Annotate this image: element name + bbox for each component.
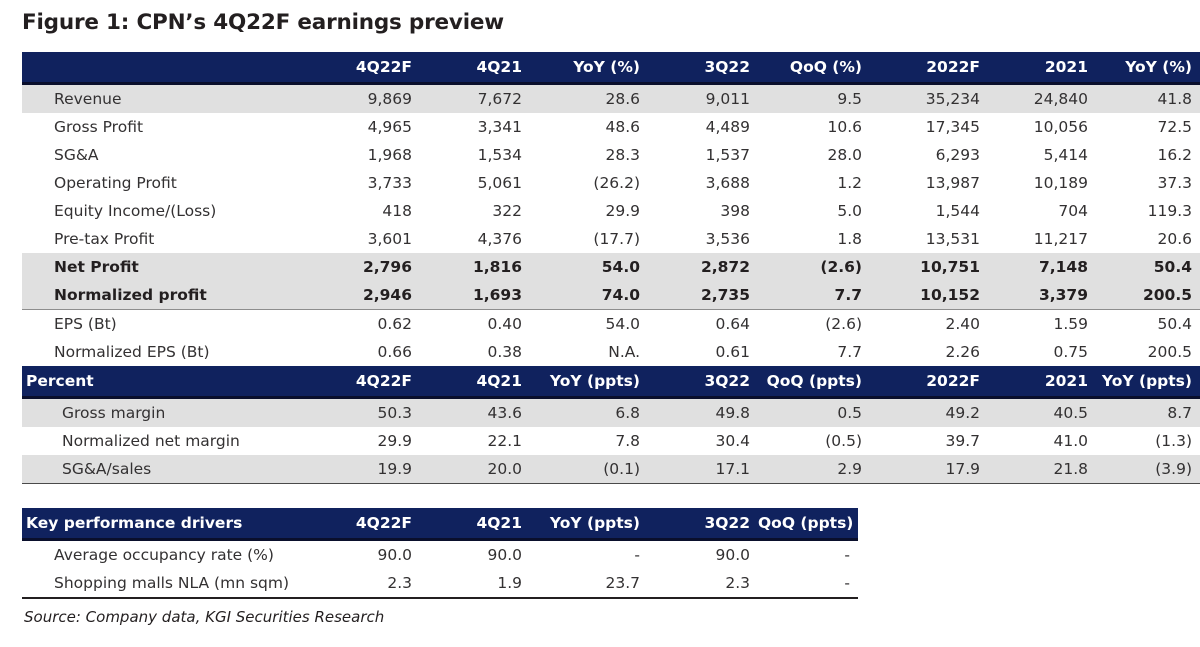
cell-value: 1,816 — [420, 253, 530, 281]
cell-value: 0.61 — [648, 338, 758, 366]
cell-value: (1.3) — [1096, 427, 1200, 455]
cell-value: 37.3 — [1096, 169, 1200, 197]
cell-value: 41.0 — [988, 427, 1096, 455]
source-note: Source: Company data, KGI Securities Res… — [24, 608, 384, 626]
cell-value: 4,489 — [648, 113, 758, 141]
cell-value: 1.8 — [758, 225, 870, 253]
cell-value: 1,693 — [420, 281, 530, 310]
figure-container: Figure 1: CPN’s 4Q22F earnings preview 4… — [0, 0, 1200, 647]
cell-value: 1,544 — [870, 197, 988, 225]
row-label-normalized-eps: Normalized EPS (Bt) — [22, 338, 310, 366]
cell-value: 13,531 — [870, 225, 988, 253]
cell-value: 7,672 — [420, 84, 530, 114]
row-label-pretax-profit: Pre-tax Profit — [22, 225, 310, 253]
row-label-operating-profit: Operating Profit — [22, 169, 310, 197]
cell-value: 28.6 — [530, 84, 648, 114]
table-row: Pre-tax Profit 3,601 4,376 (17.7) 3,536 … — [22, 225, 1200, 253]
cell-value: 20.6 — [1096, 225, 1200, 253]
cell-value: 90.0 — [648, 540, 758, 570]
main-header-col-3q22: 3Q22 — [648, 52, 758, 84]
cell-value: 90.0 — [310, 540, 420, 570]
row-label-net-profit: Net Profit — [22, 253, 310, 281]
cell-value: 3,601 — [310, 225, 420, 253]
cell-value: 3,379 — [988, 281, 1096, 310]
earnings-preview-table: 4Q22F 4Q21 YoY (%) 3Q22 QoQ (%) 2022F 20… — [22, 52, 1200, 484]
cell-value: 72.5 — [1096, 113, 1200, 141]
page-title: Figure 1: CPN’s 4Q22F earnings preview — [22, 10, 504, 35]
table-row: Normalized EPS (Bt) 0.66 0.38 N.A. 0.61 … — [22, 338, 1200, 366]
cell-value: 1,537 — [648, 141, 758, 169]
cell-value: 10,189 — [988, 169, 1096, 197]
cell-value: 2,946 — [310, 281, 420, 310]
cell-value: 1,968 — [310, 141, 420, 169]
drivers-header-col-4q21: 4Q21 — [420, 508, 530, 540]
cell-value: - — [758, 540, 858, 570]
cell-value: 3,688 — [648, 169, 758, 197]
cell-value: N.A. — [530, 338, 648, 366]
row-label-equity-income: Equity Income/(Loss) — [22, 197, 310, 225]
row-label-avg-occupancy-rate: Average occupancy rate (%) — [22, 540, 310, 570]
cell-value: 2.40 — [870, 310, 988, 339]
cell-value: 40.5 — [988, 398, 1096, 428]
cell-value: 17,345 — [870, 113, 988, 141]
cell-value: 0.5 — [758, 398, 870, 428]
drivers-header-col-yoy-ppts: YoY (ppts) — [530, 508, 648, 540]
main-header-col-2021: 2021 — [988, 52, 1096, 84]
cell-value: 119.3 — [1096, 197, 1200, 225]
cell-value: (2.6) — [758, 253, 870, 281]
cell-value: 39.7 — [870, 427, 988, 455]
cell-value: 418 — [310, 197, 420, 225]
row-label-gross-profit: Gross Profit — [22, 113, 310, 141]
cell-value: 28.0 — [758, 141, 870, 169]
cell-value: 1.9 — [420, 569, 530, 598]
cell-value: (17.7) — [530, 225, 648, 253]
cell-value: 24,840 — [988, 84, 1096, 114]
cell-value: (0.5) — [758, 427, 870, 455]
table-row: Gross Profit 4,965 3,341 48.6 4,489 10.6… — [22, 113, 1200, 141]
row-label-sga: SG&A — [22, 141, 310, 169]
table-row: Normalized profit 2,946 1,693 74.0 2,735… — [22, 281, 1200, 310]
cell-value: 322 — [420, 197, 530, 225]
table-row: Average occupancy rate (%) 90.0 90.0 - 9… — [22, 540, 858, 570]
cell-value: 10,751 — [870, 253, 988, 281]
cell-value: 8.7 — [1096, 398, 1200, 428]
cell-value: 22.1 — [420, 427, 530, 455]
cell-value: 35,234 — [870, 84, 988, 114]
cell-value: 200.5 — [1096, 281, 1200, 310]
cell-value: 30.4 — [648, 427, 758, 455]
percent-header-col-3q22: 3Q22 — [648, 366, 758, 398]
cell-value: 0.38 — [420, 338, 530, 366]
cell-value: 7.7 — [758, 338, 870, 366]
cell-value: 3,341 — [420, 113, 530, 141]
table-row: Gross margin 50.3 43.6 6.8 49.8 0.5 49.2… — [22, 398, 1200, 428]
cell-value: 0.64 — [648, 310, 758, 339]
cell-value: - — [758, 569, 858, 598]
cell-value: 0.62 — [310, 310, 420, 339]
cell-value: 9,869 — [310, 84, 420, 114]
cell-value: 5,414 — [988, 141, 1096, 169]
cell-value: 43.6 — [420, 398, 530, 428]
cell-value: 17.9 — [870, 455, 988, 484]
cell-value: 49.8 — [648, 398, 758, 428]
cell-value: 10,152 — [870, 281, 988, 310]
cell-value: 16.2 — [1096, 141, 1200, 169]
row-label-shopping-malls-nla: Shopping malls NLA (mn sqm) — [22, 569, 310, 598]
cell-value: 41.8 — [1096, 84, 1200, 114]
percent-header-col-qoq-ppts: QoQ (ppts) — [758, 366, 870, 398]
cell-value: 9,011 — [648, 84, 758, 114]
drivers-header-col-4q22f: 4Q22F — [310, 508, 420, 540]
cell-value: 2.9 — [758, 455, 870, 484]
cell-value: (3.9) — [1096, 455, 1200, 484]
cell-value: 2.3 — [310, 569, 420, 598]
table-row: SG&A 1,968 1,534 28.3 1,537 28.0 6,293 5… — [22, 141, 1200, 169]
table-row: Revenue 9,869 7,672 28.6 9,011 9.5 35,23… — [22, 84, 1200, 114]
percent-header-row: Percent 4Q22F 4Q21 YoY (ppts) 3Q22 QoQ (… — [22, 366, 1200, 398]
cell-value: 50.4 — [1096, 253, 1200, 281]
key-performance-drivers-table: Key performance drivers 4Q22F 4Q21 YoY (… — [22, 508, 858, 599]
cell-value: 1.59 — [988, 310, 1096, 339]
cell-value: 5,061 — [420, 169, 530, 197]
cell-value: 10.6 — [758, 113, 870, 141]
cell-value: 9.5 — [758, 84, 870, 114]
drivers-header-row: Key performance drivers 4Q22F 4Q21 YoY (… — [22, 508, 858, 540]
cell-value: - — [530, 540, 648, 570]
cell-value: 1.2 — [758, 169, 870, 197]
cell-value: 3,536 — [648, 225, 758, 253]
main-header-col-4q22f: 4Q22F — [310, 52, 420, 84]
table-row: Normalized net margin 29.9 22.1 7.8 30.4… — [22, 427, 1200, 455]
main-header-col-yoy-pct-annual: YoY (%) — [1096, 52, 1200, 84]
cell-value: 7,148 — [988, 253, 1096, 281]
cell-value: 2.26 — [870, 338, 988, 366]
main-header-col-yoy-pct: YoY (%) — [530, 52, 648, 84]
cell-value: 74.0 — [530, 281, 648, 310]
main-header-col-qoq-pct: QoQ (%) — [758, 52, 870, 84]
cell-value: 29.9 — [310, 427, 420, 455]
drivers-header-col-qoq-ppts: QoQ (ppts) — [758, 508, 858, 540]
cell-value: 28.3 — [530, 141, 648, 169]
table-row: Shopping malls NLA (mn sqm) 2.3 1.9 23.7… — [22, 569, 858, 598]
main-header-label — [22, 52, 310, 84]
table-row: EPS (Bt) 0.62 0.40 54.0 0.64 (2.6) 2.40 … — [22, 310, 1200, 339]
cell-value: 4,376 — [420, 225, 530, 253]
cell-value: 704 — [988, 197, 1096, 225]
table-row: Operating Profit 3,733 5,061 (26.2) 3,68… — [22, 169, 1200, 197]
main-header-row: 4Q22F 4Q21 YoY (%) 3Q22 QoQ (%) 2022F 20… — [22, 52, 1200, 84]
cell-value: 29.9 — [530, 197, 648, 225]
cell-value: 48.6 — [530, 113, 648, 141]
percent-header-label: Percent — [22, 366, 310, 398]
percent-header-col-yoy-ppts: YoY (ppts) — [530, 366, 648, 398]
row-label-eps: EPS (Bt) — [22, 310, 310, 339]
percent-header-col-4q21: 4Q21 — [420, 366, 530, 398]
cell-value: 1,534 — [420, 141, 530, 169]
cell-value: 10,056 — [988, 113, 1096, 141]
cell-value: 19.9 — [310, 455, 420, 484]
cell-value: 50.3 — [310, 398, 420, 428]
cell-value: 54.0 — [530, 253, 648, 281]
table-row: SG&A/sales 19.9 20.0 (0.1) 17.1 2.9 17.9… — [22, 455, 1200, 484]
cell-value: 5.0 — [758, 197, 870, 225]
cell-value: 7.7 — [758, 281, 870, 310]
cell-value: 2,872 — [648, 253, 758, 281]
cell-value: 200.5 — [1096, 338, 1200, 366]
cell-value: 54.0 — [530, 310, 648, 339]
row-label-normalized-net-margin: Normalized net margin — [22, 427, 310, 455]
main-header-col-4q21: 4Q21 — [420, 52, 530, 84]
cell-value: (26.2) — [530, 169, 648, 197]
table-row: Equity Income/(Loss) 418 322 29.9 398 5.… — [22, 197, 1200, 225]
cell-value: 17.1 — [648, 455, 758, 484]
percent-header-col-4q22f: 4Q22F — [310, 366, 420, 398]
cell-value: 90.0 — [420, 540, 530, 570]
cell-value: 50.4 — [1096, 310, 1200, 339]
cell-value: 2,796 — [310, 253, 420, 281]
cell-value: 0.40 — [420, 310, 530, 339]
cell-value: 0.66 — [310, 338, 420, 366]
cell-value: 21.8 — [988, 455, 1096, 484]
drivers-header-col-3q22: 3Q22 — [648, 508, 758, 540]
cell-value: 6.8 — [530, 398, 648, 428]
row-label-revenue: Revenue — [22, 84, 310, 114]
cell-value: 20.0 — [420, 455, 530, 484]
cell-value: 13,987 — [870, 169, 988, 197]
cell-value: 6,293 — [870, 141, 988, 169]
table-row: Net Profit 2,796 1,816 54.0 2,872 (2.6) … — [22, 253, 1200, 281]
row-label-sga-sales: SG&A/sales — [22, 455, 310, 484]
percent-header-col-2022f: 2022F — [870, 366, 988, 398]
percent-header-col-yoy-ppts-annual: YoY (ppts) — [1096, 366, 1200, 398]
cell-value: 3,733 — [310, 169, 420, 197]
cell-value: 11,217 — [988, 225, 1096, 253]
cell-value: (2.6) — [758, 310, 870, 339]
cell-value: 7.8 — [530, 427, 648, 455]
row-label-gross-margin: Gross margin — [22, 398, 310, 428]
cell-value: 2,735 — [648, 281, 758, 310]
cell-value: (0.1) — [530, 455, 648, 484]
cell-value: 2.3 — [648, 569, 758, 598]
drivers-header-label: Key performance drivers — [22, 508, 310, 540]
cell-value: 49.2 — [870, 398, 988, 428]
cell-value: 0.75 — [988, 338, 1096, 366]
cell-value: 4,965 — [310, 113, 420, 141]
cell-value: 23.7 — [530, 569, 648, 598]
main-header-col-2022f: 2022F — [870, 52, 988, 84]
row-label-normalized-profit: Normalized profit — [22, 281, 310, 310]
cell-value: 398 — [648, 197, 758, 225]
percent-header-col-2021: 2021 — [988, 366, 1096, 398]
